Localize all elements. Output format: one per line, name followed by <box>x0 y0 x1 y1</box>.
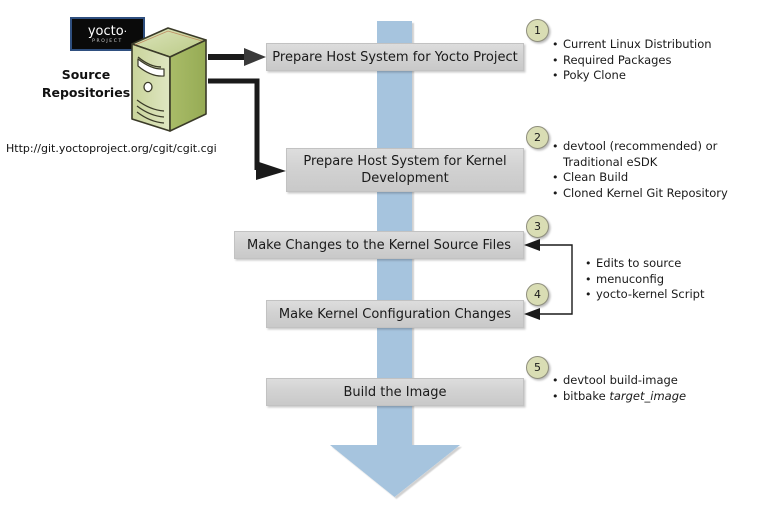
logo-wordmark: yocto· <box>88 25 127 38</box>
diagram-canvas: yocto· PROJECT Source Repositories Http:… <box>0 0 769 517</box>
server-tower-icon <box>128 26 210 136</box>
process-box-step-5[interactable]: Build the Image <box>266 378 524 406</box>
notes-step-1: Current Linux Distribution Required Pack… <box>550 37 712 84</box>
notes-steps-3-4: Edits to source menuconfig yocto-kernel … <box>583 256 705 303</box>
note-item: Clean Build <box>563 170 740 186</box>
logo-subtitle: PROJECT <box>92 39 123 45</box>
notes-step-5: devtool build-image bitbake target_image <box>550 373 686 404</box>
note-item: Edits to source <box>596 256 705 272</box>
process-box-step-1[interactable]: Prepare Host System for Yocto Project <box>266 43 524 71</box>
connector-server-to-step2 <box>208 81 286 180</box>
note-item-text: bitbake <box>563 389 609 403</box>
note-item: Current Linux Distribution <box>563 37 712 53</box>
note-item: Cloned Kernel Git Repository <box>563 186 740 202</box>
note-item: yocto-kernel Script <box>596 287 705 303</box>
process-box-step-4[interactable]: Make Kernel Configuration Changes <box>266 300 524 328</box>
note-item: Poky Clone <box>563 68 712 84</box>
note-item-emphasis: target_image <box>609 389 686 403</box>
step-number-5: 5 <box>526 356 549 379</box>
step-number-1: 1 <box>526 19 549 42</box>
source-repositories-url: Http://git.yoctoproject.org/cgit/cgit.cg… <box>6 142 217 155</box>
process-box-step-3[interactable]: Make Changes to the Kernel Source Files <box>234 231 524 259</box>
process-box-step-2[interactable]: Prepare Host System for Kernel Developme… <box>286 148 524 192</box>
note-item: Required Packages <box>563 53 712 69</box>
note-item: menuconfig <box>596 272 705 288</box>
source-label-line2: Repositories <box>30 84 142 102</box>
logo-word-text: yocto <box>88 24 124 39</box>
note-item: devtool build-image <box>563 373 686 389</box>
logo-dot: · <box>124 25 128 38</box>
note-item: bitbake target_image <box>563 389 686 405</box>
source-label-line1: Source <box>30 66 142 84</box>
step-number-3: 3 <box>526 215 549 238</box>
note-item: devtool (recommended) or Traditional eSD… <box>563 139 740 170</box>
source-repositories-label: Source Repositories <box>30 66 142 102</box>
step-number-2: 2 <box>526 126 549 149</box>
step-number-4: 4 <box>526 283 549 306</box>
connector-server-to-step1 <box>208 48 266 66</box>
notes-step-2: devtool (recommended) or Traditional eSD… <box>550 139 740 201</box>
connector-notes-to-steps-3-4 <box>524 239 572 320</box>
